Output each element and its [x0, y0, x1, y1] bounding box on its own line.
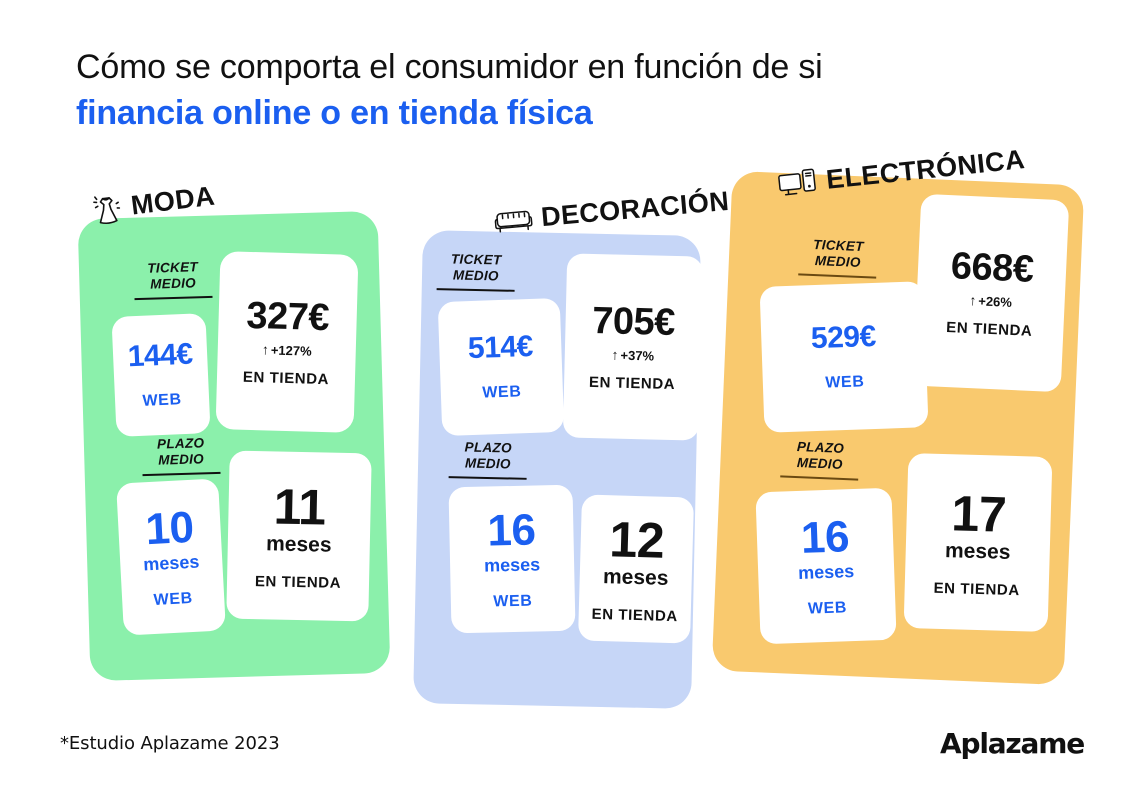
delta-decoracion-ticket: ↑ +37%	[611, 347, 654, 362]
card-decoracion-ticket-tienda: 705€ ↑ +37% EN TIENDA	[563, 253, 703, 440]
arrow-up-icon: ↑	[611, 347, 618, 361]
plazo-medio-line-1: PLAZO	[157, 435, 205, 451]
card-decoracion-plazo-tienda: 12 meses EN TIENDA	[578, 494, 694, 643]
plazo-medio-line-2: MEDIO	[465, 456, 511, 472]
delta-value: +127%	[271, 343, 312, 357]
unit-meses: meses	[603, 566, 669, 589]
desktop-computer-icon	[776, 166, 819, 200]
delta-value: +26%	[978, 294, 1012, 309]
ticket-medio-line-1: TICKET	[147, 259, 198, 275]
unit-meses: meses	[945, 540, 1011, 563]
arrow-up-icon: ↑	[969, 293, 977, 307]
category-heading-decoracion: DECORACIÓN	[493, 186, 730, 237]
section-label-ticket-medio-decoracion: TICKET MEDIO	[428, 251, 525, 292]
channel-label-web: WEB	[153, 590, 193, 608]
dress-icon	[90, 190, 124, 227]
value-decoracion-ticket-web: 514€	[467, 332, 533, 364]
value-electronica-plazo-tienda: 17	[951, 488, 1007, 540]
unit-meses: meses	[484, 555, 540, 574]
arrow-up-icon: ↑	[262, 342, 269, 356]
unit-meses: meses	[798, 562, 855, 582]
page-title: Cómo se comporta el consumidor en funció…	[76, 45, 896, 135]
footnote-source: *Estudio Aplazame 2023	[60, 733, 280, 754]
card-moda-plazo-web: 10 meses WEB	[116, 478, 226, 635]
title-line-2: financia online o en tienda física	[76, 91, 896, 135]
plazo-medio-line-2: MEDIO	[797, 455, 843, 472]
ticket-medio-line-1: TICKET	[813, 237, 864, 254]
delta-moda-ticket: ↑ +127%	[262, 342, 312, 357]
channel-label-tienda: EN TIENDA	[589, 375, 676, 392]
delta-value: +37%	[620, 348, 654, 362]
ticket-medio-line-2: MEDIO	[150, 275, 196, 291]
card-electronica-plazo-web: 16 meses WEB	[755, 488, 896, 645]
section-label-plazo-medio-moda: PLAZO MEDIO	[132, 435, 229, 477]
unit-meses: meses	[266, 533, 332, 555]
value-moda-plazo-tienda: 11	[273, 481, 326, 532]
infographic-canvas: Cómo se comporta el consumidor en funció…	[0, 0, 1146, 803]
delta-electronica-ticket: ↑ +26%	[969, 293, 1012, 309]
channel-label-web: WEB	[825, 374, 865, 391]
value-decoracion-plazo-web: 16	[487, 508, 536, 553]
card-decoracion-ticket-web: 514€ WEB	[438, 298, 565, 436]
value-moda-plazo-web: 10	[144, 505, 194, 551]
category-label-decoracion: DECORACIÓN	[540, 186, 731, 233]
card-moda-ticket-web: 144€ WEB	[111, 313, 210, 437]
channel-label-web: WEB	[493, 593, 532, 610]
plazo-medio-line-1: PLAZO	[797, 439, 845, 456]
unit-meses: meses	[143, 552, 200, 573]
card-electronica-ticket-web: 529€ WEB	[760, 281, 929, 433]
plazo-medio-line-2: MEDIO	[158, 451, 204, 467]
channel-label-tienda: EN TIENDA	[591, 607, 678, 624]
value-decoracion-plazo-tienda: 12	[609, 514, 665, 566]
plazo-medio-line-1: PLAZO	[464, 440, 512, 456]
card-moda-ticket-tienda: 327€ ↑ +127% EN TIENDA	[216, 251, 359, 433]
channel-label-web: WEB	[808, 600, 848, 617]
value-moda-ticket-tienda: 327€	[246, 297, 330, 337]
ticket-medio-line-2: MEDIO	[815, 253, 861, 270]
card-decoracion-plazo-web: 16 meses WEB	[448, 485, 575, 634]
value-electronica-plazo-web: 16	[800, 515, 849, 561]
section-label-plazo-medio-decoracion: PLAZO MEDIO	[440, 439, 537, 480]
channel-label-tienda: EN TIENDA	[255, 574, 342, 591]
sofa-icon	[493, 206, 533, 235]
value-decoracion-ticket-tienda: 705€	[592, 302, 675, 342]
ticket-medio-line-2: MEDIO	[453, 268, 499, 284]
section-label-ticket-medio-electronica: TICKET MEDIO	[789, 236, 887, 279]
section-label-plazo-medio-electronica: PLAZO MEDIO	[771, 438, 869, 481]
ticket-medio-line-1: TICKET	[451, 251, 502, 267]
card-electronica-plazo-tienda: 17 meses EN TIENDA	[904, 453, 1053, 632]
card-moda-plazo-tienda: 11 meses EN TIENDA	[226, 451, 371, 622]
value-electronica-ticket-tienda: 668€	[950, 247, 1034, 289]
channel-label-tienda: EN TIENDA	[946, 320, 1033, 339]
value-moda-ticket-web: 144€	[127, 340, 193, 373]
brand-logo-aplazame: Aplazame	[940, 727, 1084, 760]
channel-label-tienda: EN TIENDA	[933, 580, 1020, 597]
card-electronica-ticket-tienda: 668€ ↑ +26% EN TIENDA	[913, 194, 1070, 393]
channel-label-web: WEB	[142, 392, 182, 410]
channel-label-web: WEB	[482, 384, 522, 401]
section-label-ticket-medio-moda: TICKET MEDIO	[124, 259, 221, 301]
title-line-1: Cómo se comporta el consumidor en funció…	[76, 45, 896, 89]
value-electronica-ticket-web: 529€	[810, 322, 876, 354]
channel-label-tienda: EN TIENDA	[243, 370, 330, 387]
